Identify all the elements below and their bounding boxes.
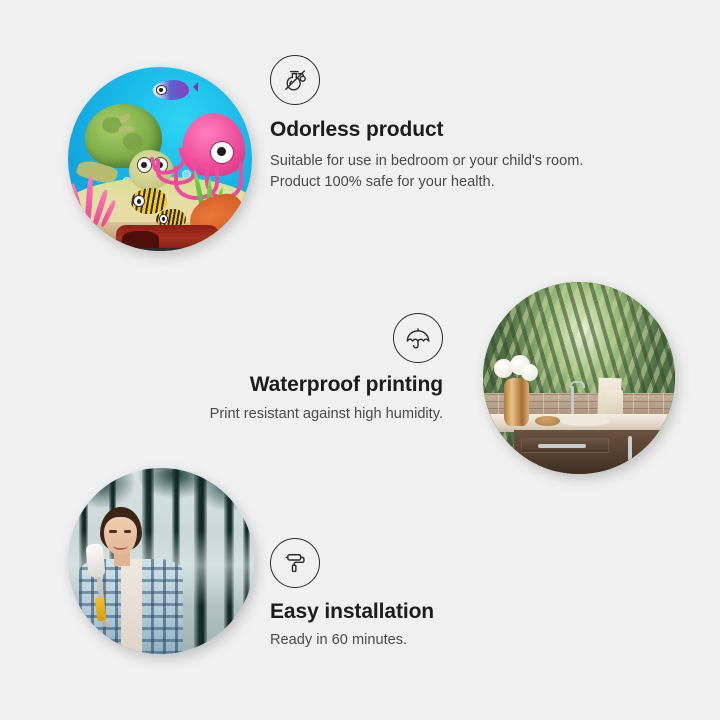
forest-scene [68,468,254,654]
paint-roller-icon [270,538,320,588]
smile [113,542,128,550]
feature-waterproof: Waterproof printing Print resistant agai… [130,313,443,425]
bathroom-scene [483,282,675,474]
turtle-flipper [118,125,134,133]
drawer-handle [538,444,586,448]
paint-roller-head [86,543,106,577]
photo-underwater-mural [68,67,252,251]
feature-description: Ready in 60 minutes. [270,630,570,651]
cabinet-handle [662,436,666,461]
cabinet-handle [628,436,632,461]
feature-installation: Easy installation Ready in 60 minutes. [270,538,570,651]
coral [70,174,125,229]
sink-basin [560,416,610,426]
feature-description: Suitable for use in bedroom or your chil… [270,151,600,192]
feature-description: Print resistant against high humidity. [130,404,443,425]
no-odor-spray-bottle-icon [270,55,320,105]
red-sofa [116,225,219,251]
underwater-scene [68,67,252,251]
face [104,517,137,556]
feature-title: Waterproof printing [130,372,443,398]
faucet [571,386,574,419]
photo-bathroom-wallpaper [483,282,675,474]
installer-person [79,505,183,654]
feature-title: Odorless product [270,117,600,143]
blue-fish-icon [153,80,190,100]
photo-installer-forest [68,468,254,654]
gold-vase [504,378,529,426]
fish-eye [156,85,168,95]
octopus-eye [210,141,235,164]
umbrella-icon [393,313,443,363]
eyebrow [124,530,131,532]
soap-dish [535,416,560,426]
eyebrow [109,530,116,532]
feature-collage: Odorless product Suitable for use in bed… [0,0,720,720]
soap-dispenser [606,390,623,417]
turtle-flipper [118,113,132,124]
fish-eye [159,214,169,224]
feature-odorless: Odorless product Suitable for use in bed… [270,55,600,193]
fish-eye [133,195,145,207]
wood-vanity-cabinet [514,430,675,474]
feature-title: Easy installation [270,599,570,625]
